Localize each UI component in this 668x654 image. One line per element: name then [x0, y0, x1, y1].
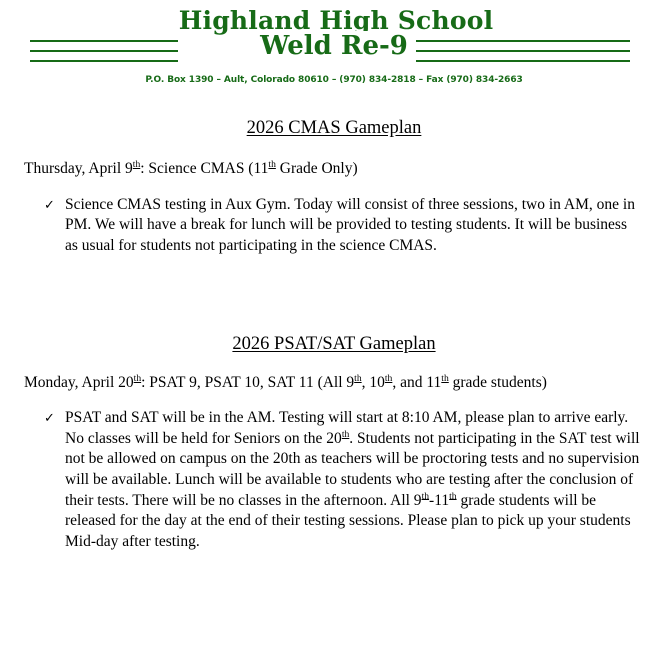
- section-cmas: 2026 CMAS Gameplan Thursday, April 9th: …: [22, 117, 646, 256]
- date-line-psat-middle: : PSAT 9, PSAT 10, SAT 11 (All 9: [141, 374, 354, 391]
- district-name-text: Weld Re-9: [252, 31, 416, 62]
- bullet-text-psat-sat: PSAT and SAT will be in the AM. Testing …: [65, 408, 646, 552]
- date-line-cmas-prefix: Thursday, April 9: [24, 160, 133, 177]
- section-spacer: [22, 257, 646, 333]
- section-title-cmas: 2026 CMAS Gameplan: [22, 117, 646, 139]
- checkmark-bullet-icon: ✓: [44, 195, 65, 216]
- date-line-psat-middle-3: , and 11: [392, 374, 441, 391]
- section-title-cmas-text: 2026 CMAS Gameplan: [247, 118, 422, 138]
- date-line-cmas: Thursday, April 9th: Science CMAS (11th …: [22, 159, 646, 178]
- bullet-text-part-3: -11: [429, 492, 449, 509]
- bullet-item-cmas: ✓ Science CMAS testing in Aux Gym. Today…: [22, 195, 646, 257]
- date-line-psat-suffix: grade students): [449, 374, 547, 391]
- ordinal-suffix: th: [268, 159, 275, 170]
- ordinal-suffix: th: [134, 373, 141, 384]
- ordinal-suffix: th: [422, 490, 429, 501]
- bullet-text-cmas: Science CMAS testing in Aux Gym. Today w…: [65, 195, 646, 257]
- section-title-psat-sat-text: 2026 PSAT/SAT Gameplan: [232, 334, 435, 354]
- ordinal-suffix: th: [441, 373, 448, 384]
- section-psat-sat: 2026 PSAT/SAT Gameplan Monday, April 20t…: [22, 333, 646, 553]
- letterhead: Highland High School Weld Re-9 P.O. Box …: [0, 0, 668, 85]
- checkmark-bullet-icon: ✓: [44, 408, 65, 429]
- date-line-psat-prefix: Monday, April 20: [24, 374, 134, 391]
- district-name-wrapper: Weld Re-9: [0, 31, 668, 62]
- bullet-item-psat-sat: ✓ PSAT and SAT will be in the AM. Testin…: [22, 408, 646, 552]
- date-line-cmas-middle: : Science CMAS (11: [140, 160, 268, 177]
- date-line-psat-sat: Monday, April 20th: PSAT 9, PSAT 10, SAT…: [22, 373, 646, 392]
- date-line-psat-middle-2: , 10: [362, 374, 385, 391]
- ordinal-suffix: th: [354, 373, 361, 384]
- section-title-psat-sat: 2026 PSAT/SAT Gameplan: [22, 333, 646, 355]
- ordinal-suffix: th: [449, 490, 456, 501]
- school-address-line: P.O. Box 1390 – Ault, Colorado 80610 – (…: [0, 75, 668, 85]
- district-name-row: Weld Re-9: [0, 35, 668, 69]
- date-line-cmas-suffix: Grade Only): [276, 160, 358, 177]
- document-page: Highland High School Weld Re-9 P.O. Box …: [0, 0, 668, 654]
- document-body: 2026 CMAS Gameplan Thursday, April 9th: …: [0, 117, 668, 552]
